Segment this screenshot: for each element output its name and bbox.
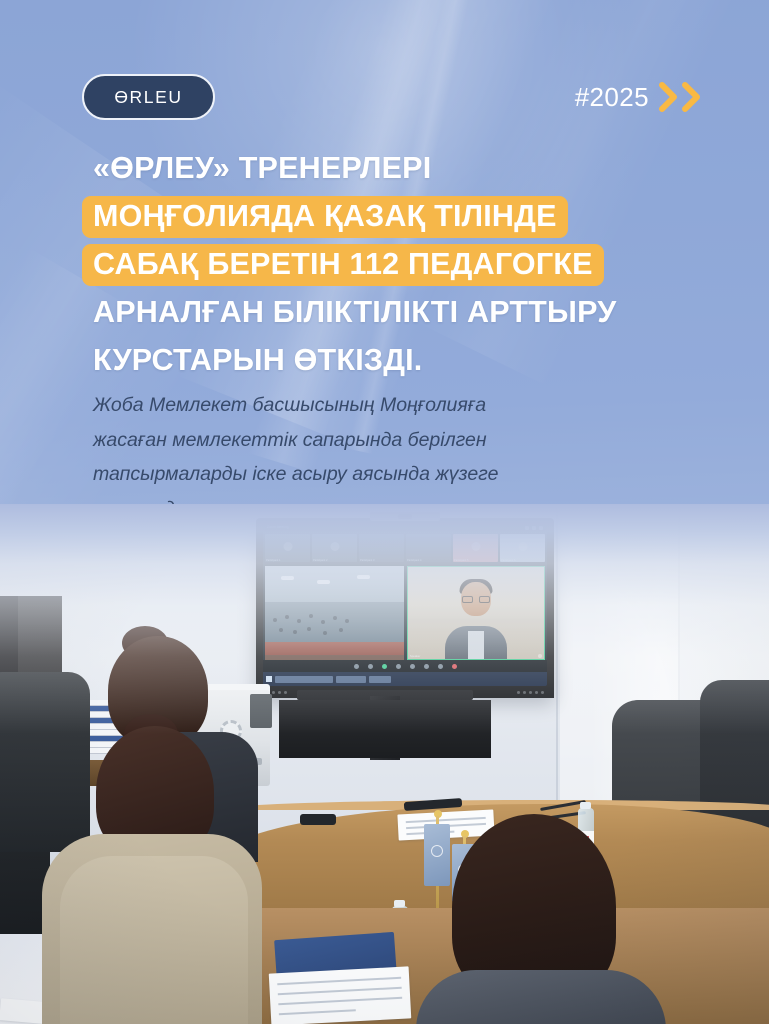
headline-line: «ӨРЛЕУ» ТРЕНЕРЛЕРІ bbox=[82, 148, 442, 190]
hall-audience bbox=[265, 602, 404, 660]
interactive-display[interactable]: Zoom Meeting Participant 1 bbox=[256, 518, 554, 698]
meeting-toolbar[interactable] bbox=[263, 660, 547, 672]
avatar bbox=[283, 542, 292, 551]
taskbar-item[interactable] bbox=[336, 676, 366, 683]
conference-room-photo: Zoom Meeting Participant 1 bbox=[0, 504, 769, 1024]
headline-line-highlighted: САБАҚ БЕРЕТІН 112 ПЕДАГОГКЕ bbox=[82, 244, 604, 286]
participant-thumbnail[interactable]: Participant 6 bbox=[500, 534, 545, 562]
headline-line-highlighted: МОҢҒОЛИЯДА ҚАЗАҚ ТІЛІНДЕ bbox=[82, 196, 568, 238]
participant-filmstrip[interactable]: Participant 1 Participant 2 Participant … bbox=[263, 532, 547, 564]
participant-name: Participant 5 bbox=[454, 559, 468, 562]
avatar bbox=[471, 542, 480, 551]
speaker-name-label: Speaker bbox=[410, 654, 420, 658]
participant-thumbnail[interactable]: Participant 5 bbox=[453, 534, 498, 562]
participants-icon[interactable] bbox=[396, 664, 401, 669]
display-camera-icon bbox=[370, 512, 440, 521]
video-conference-app[interactable]: Zoom Meeting Participant 1 bbox=[263, 524, 547, 686]
glasses-icon bbox=[462, 596, 490, 603]
close-icon[interactable] bbox=[539, 526, 543, 530]
mute-icon[interactable] bbox=[354, 664, 359, 669]
table-flag bbox=[424, 810, 452, 920]
bottle-cap bbox=[394, 900, 405, 907]
reactions-icon[interactable] bbox=[438, 664, 443, 669]
taskbar-item[interactable] bbox=[369, 676, 391, 683]
orleu-logo-badge[interactable]: ӨRLEU bbox=[82, 74, 215, 120]
shared-hall-view[interactable] bbox=[265, 566, 404, 660]
display-indicator-lights bbox=[517, 691, 544, 694]
ceiling-lamp bbox=[357, 575, 370, 579]
headline-block: «ӨРЛЕУ» ТРЕНЕРЛЕРІ МОҢҒОЛИЯДА ҚАЗАҚ ТІЛІ… bbox=[82, 148, 692, 383]
maximize-icon[interactable] bbox=[532, 526, 536, 530]
logo-label: ӨRLEU bbox=[114, 87, 182, 108]
participant-thumbnail[interactable]: Participant 1 bbox=[265, 534, 310, 562]
minimize-icon[interactable] bbox=[525, 526, 529, 530]
hall-ceiling bbox=[265, 566, 404, 602]
participant-name: Participant 4 bbox=[407, 559, 421, 562]
active-speaker-tile[interactable]: Speaker bbox=[407, 566, 545, 660]
participant-name: Participant 1 bbox=[266, 559, 280, 562]
avatar bbox=[330, 542, 339, 551]
display-stand-base bbox=[279, 700, 491, 758]
headline-line: АРНАЛҒАН БІЛІКТІЛІКТІ АРТТЫРУ bbox=[82, 292, 627, 334]
hashtag-group: #2025 bbox=[575, 81, 703, 113]
ceiling-lamp bbox=[317, 580, 330, 584]
top-bar: ӨRLEU #2025 bbox=[0, 74, 769, 120]
person-torso bbox=[416, 970, 666, 1024]
participant-thumbnail[interactable]: Participant 3 bbox=[359, 534, 404, 562]
ceiling-lamp bbox=[281, 576, 294, 580]
poster-canvas: ӨRLEU #2025 «ӨРЛЕУ» ТРЕНЕРЛЕРІ МОҢҒОЛИЯД… bbox=[0, 0, 769, 1024]
meeting-titlebar: Zoom Meeting bbox=[263, 524, 547, 532]
subtitle-line: жасаған мемлекеттік сапарында берілген bbox=[93, 423, 653, 458]
record-icon[interactable] bbox=[424, 664, 429, 669]
taskbar-item[interactable] bbox=[275, 676, 333, 683]
window-controls[interactable] bbox=[525, 526, 543, 530]
person-torso bbox=[60, 856, 248, 1024]
participant-name: Participant 2 bbox=[313, 559, 327, 562]
video-icon[interactable] bbox=[368, 664, 373, 669]
participant-name: Participant 6 bbox=[501, 559, 515, 562]
meeting-stage: Speaker bbox=[265, 566, 545, 660]
microphone-icon bbox=[538, 654, 542, 658]
subtitle-line: тапсырмаларды іске асыру аясында жүзеге bbox=[93, 457, 653, 492]
remote-control[interactable] bbox=[300, 814, 336, 825]
flag-cloth bbox=[424, 824, 450, 886]
hall-seating bbox=[265, 642, 404, 656]
windows-taskbar[interactable] bbox=[263, 672, 547, 686]
flag-emblem bbox=[431, 845, 443, 857]
display-screen[interactable]: Zoom Meeting Participant 1 bbox=[263, 524, 547, 686]
speaker-shirt bbox=[468, 631, 484, 659]
participant-name: Participant 3 bbox=[360, 559, 374, 562]
participant-thumbnail[interactable]: Participant 2 bbox=[312, 534, 357, 562]
participant-thumbnail[interactable]: Participant 4 bbox=[406, 534, 451, 562]
subtitle-line: Жоба Мемлекет басшысының Моңғолияға bbox=[93, 388, 653, 423]
printer-panel bbox=[250, 694, 272, 728]
chat-icon[interactable] bbox=[410, 664, 415, 669]
headline-line: КУРСТАРЫН ӨТКІЗДІ. bbox=[82, 340, 433, 382]
double-chevron-right-icon bbox=[658, 81, 703, 113]
leave-meeting-icon[interactable] bbox=[452, 664, 457, 669]
hashtag-label: #2025 bbox=[575, 82, 649, 113]
bottle-cap bbox=[580, 802, 591, 809]
avatar bbox=[518, 542, 527, 551]
meeting-title: Zoom Meeting bbox=[267, 526, 289, 530]
windows-start-icon[interactable] bbox=[266, 676, 272, 682]
share-screen-icon[interactable] bbox=[382, 664, 387, 669]
paper-sheet bbox=[269, 966, 412, 1024]
office-chair bbox=[0, 672, 90, 852]
